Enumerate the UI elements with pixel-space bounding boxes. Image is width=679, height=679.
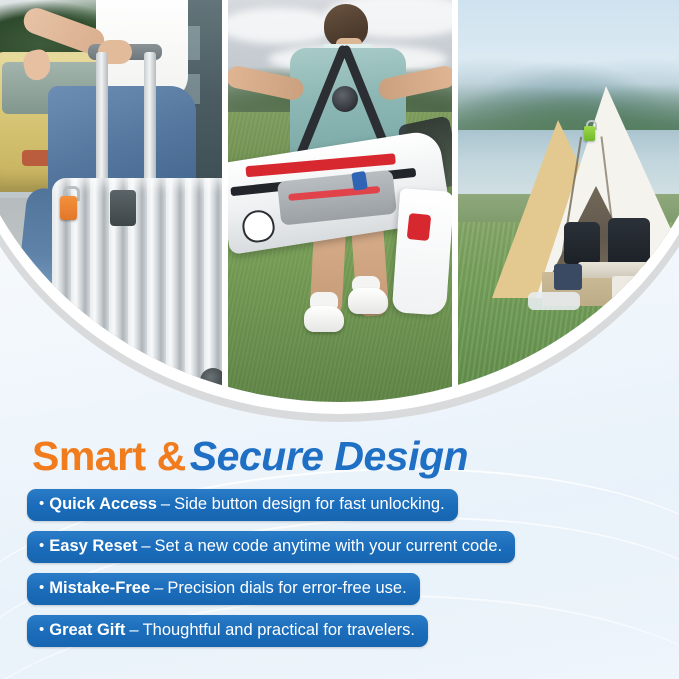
feature-description: Precision dials for error-free use.	[167, 579, 406, 598]
hero-photo-strip	[0, 0, 679, 430]
golf-shoe	[348, 288, 388, 314]
silver-suitcase	[52, 178, 222, 402]
bullet-icon: •	[39, 622, 44, 637]
feature-dash: –	[141, 537, 150, 556]
feature-label: Easy Reset	[49, 537, 137, 556]
feature-dash: –	[154, 579, 163, 598]
ground-mat	[528, 292, 580, 310]
feature-description: Thoughtful and practical for travelers.	[143, 621, 415, 640]
green-combination-lock	[584, 126, 595, 141]
blue-luggage-lock-tag	[351, 171, 368, 191]
suitcase-wheel	[168, 376, 194, 402]
title-part-smart: Smart &	[32, 433, 186, 479]
arc-clip-mask	[0, 0, 679, 402]
suitcase-badge	[110, 190, 136, 226]
feature-pill-great-gift: • Great Gift – Thoughtful and practical …	[27, 615, 428, 647]
photo-lakeside-glamping-tent	[458, 0, 679, 402]
page-title: Smart &Secure Design	[32, 433, 468, 480]
feature-description: Side button design for fast unlocking.	[174, 495, 445, 514]
title-part-secure: Secure Design	[190, 433, 468, 479]
camping-chair	[608, 218, 650, 266]
feature-pill-easy-reset: • Easy Reset – Set a new code anytime wi…	[27, 531, 515, 563]
bullet-icon: •	[39, 496, 44, 511]
golf-towel	[392, 188, 452, 315]
feature-pill-quick-access: • Quick Access – Side button design for …	[27, 489, 458, 521]
storage-crate	[554, 264, 582, 290]
orange-combination-lock	[60, 196, 77, 220]
photo-golfer-with-bag	[228, 0, 452, 402]
golf-shoe	[304, 306, 344, 332]
feature-list: • Quick Access – Side button design for …	[27, 489, 515, 647]
feature-description: Set a new code anytime with your current…	[155, 537, 503, 556]
towel-logo	[407, 213, 432, 241]
bullet-icon: •	[39, 538, 44, 553]
feature-label: Great Gift	[49, 621, 125, 640]
cooler-box	[612, 276, 642, 300]
bag-logo	[240, 208, 277, 245]
feature-dash: –	[129, 621, 138, 640]
strap-connector	[332, 86, 358, 112]
water-jug	[644, 272, 662, 296]
feature-pill-mistake-free: • Mistake-Free – Precision dials for err…	[27, 573, 420, 605]
suitcase-wheel	[200, 368, 222, 394]
feature-label: Quick Access	[49, 495, 157, 514]
photo-traveler-with-suitcase	[0, 0, 222, 402]
feature-label: Mistake-Free	[49, 579, 150, 598]
feature-dash: –	[161, 495, 170, 514]
product-feature-card: Smart &Secure Design • Quick Access – Si…	[0, 0, 679, 679]
bullet-icon: •	[39, 580, 44, 595]
camping-chair	[564, 222, 600, 264]
